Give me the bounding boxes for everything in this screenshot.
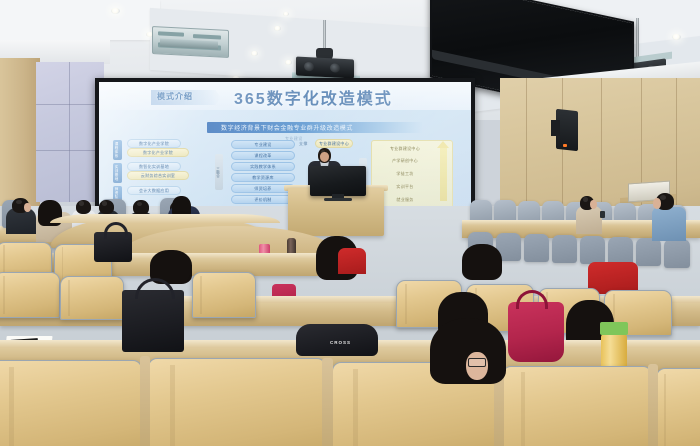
black-tote-bag	[122, 290, 184, 352]
audience-head	[99, 200, 114, 214]
slide-outcome-row: 专业群建设中心	[376, 145, 434, 153]
ceiling-projector-icon	[296, 56, 354, 78]
audience-face	[24, 203, 31, 212]
slide-subtitle-text: 数字经济背景下财会金融专业群升级改造模式	[221, 123, 353, 132]
seat-back-front	[148, 358, 326, 446]
slide-pill: 实践教学体系	[231, 162, 295, 171]
empty-chair	[636, 238, 661, 266]
downlight	[251, 51, 258, 56]
audience-head	[133, 200, 149, 215]
slide-pill: 课程改革	[231, 151, 295, 160]
podium-monitor	[310, 166, 366, 196]
seat-back	[192, 272, 256, 318]
lecture-hall-photo: 模式介绍 365数字化改造模式 数字经济背景下财会金融专业群升级改造模式 专业建…	[0, 0, 700, 446]
slide-pill: 数字化产业学院	[127, 148, 189, 157]
bag-brand-label: CROSS	[330, 340, 351, 345]
audience-body	[338, 248, 366, 274]
downlight	[285, 60, 292, 65]
bottle-cap	[600, 322, 628, 335]
bag-strap	[104, 222, 128, 239]
seat-divider	[648, 364, 658, 446]
empty-chair	[524, 234, 549, 262]
audience-body	[576, 206, 602, 234]
wall-left-wood-trim	[0, 58, 40, 208]
audience-face	[653, 198, 661, 209]
seat-back	[60, 276, 124, 320]
ceiling-panel-left	[0, 0, 160, 40]
empty-chair	[664, 239, 690, 268]
downlight	[111, 8, 120, 14]
slide-title: 365数字化改造模式	[234, 85, 393, 109]
seat-back-front	[502, 366, 652, 446]
downlight	[274, 26, 281, 31]
downlight	[672, 34, 681, 40]
monitor-base	[324, 198, 352, 201]
speaker-led-icon	[563, 144, 567, 147]
slide-link-label: 支撑	[299, 141, 308, 147]
empty-chair	[608, 237, 633, 265]
presenter-face	[320, 152, 329, 162]
slide-pill: 专业群建设中心	[315, 139, 353, 148]
slide-pill: 教学资源库	[231, 173, 295, 182]
seat-divider	[140, 356, 150, 446]
slide-outcome-row: 就业服务	[376, 196, 434, 204]
empty-chair	[552, 235, 577, 263]
slide-vtab-2: 实训基地	[113, 163, 122, 183]
glasses-icon	[468, 358, 486, 367]
slide-pill: 评价机制	[231, 195, 295, 204]
slide-mid-vtab: 三融合	[215, 154, 223, 190]
up-arrow-icon	[440, 147, 447, 201]
curved-front-desk-edge	[50, 214, 280, 223]
slide-pill: 云财务综合实训室	[127, 171, 189, 180]
audience-head	[76, 200, 91, 214]
audience-body	[652, 207, 686, 241]
slide-pill: 会计大数据应用	[127, 186, 181, 195]
seat-back	[0, 272, 60, 318]
speaker-bracket	[551, 120, 560, 136]
slide-pill: 数智化实训基地	[127, 162, 181, 171]
slide-pill: 数字化产业学院	[127, 139, 181, 148]
slide-outcome-row: 产学研创中心	[376, 157, 434, 165]
phone-icon	[600, 211, 605, 218]
downlight	[283, 12, 289, 16]
seat-back-front	[656, 368, 700, 446]
seat-divider	[322, 358, 333, 446]
seat-back-front	[0, 360, 142, 446]
slide-body: 课程体系 实训基地 师资队伍 数字化产业学院 数字化产业学院 数智化实训基地 云…	[107, 138, 463, 208]
slide-kicker-label: 模式介绍	[157, 91, 193, 102]
empty-chair	[580, 236, 605, 264]
slide-pill: 专业建设	[231, 140, 295, 149]
pink-handbag	[508, 302, 564, 362]
slide-outcome-row: 学徒工坊	[376, 170, 434, 178]
wall-left-acoustic-panel	[36, 62, 104, 202]
audience-face	[590, 200, 597, 209]
audience-hair	[462, 244, 502, 280]
slide-vtab-1: 课程体系	[113, 140, 122, 160]
